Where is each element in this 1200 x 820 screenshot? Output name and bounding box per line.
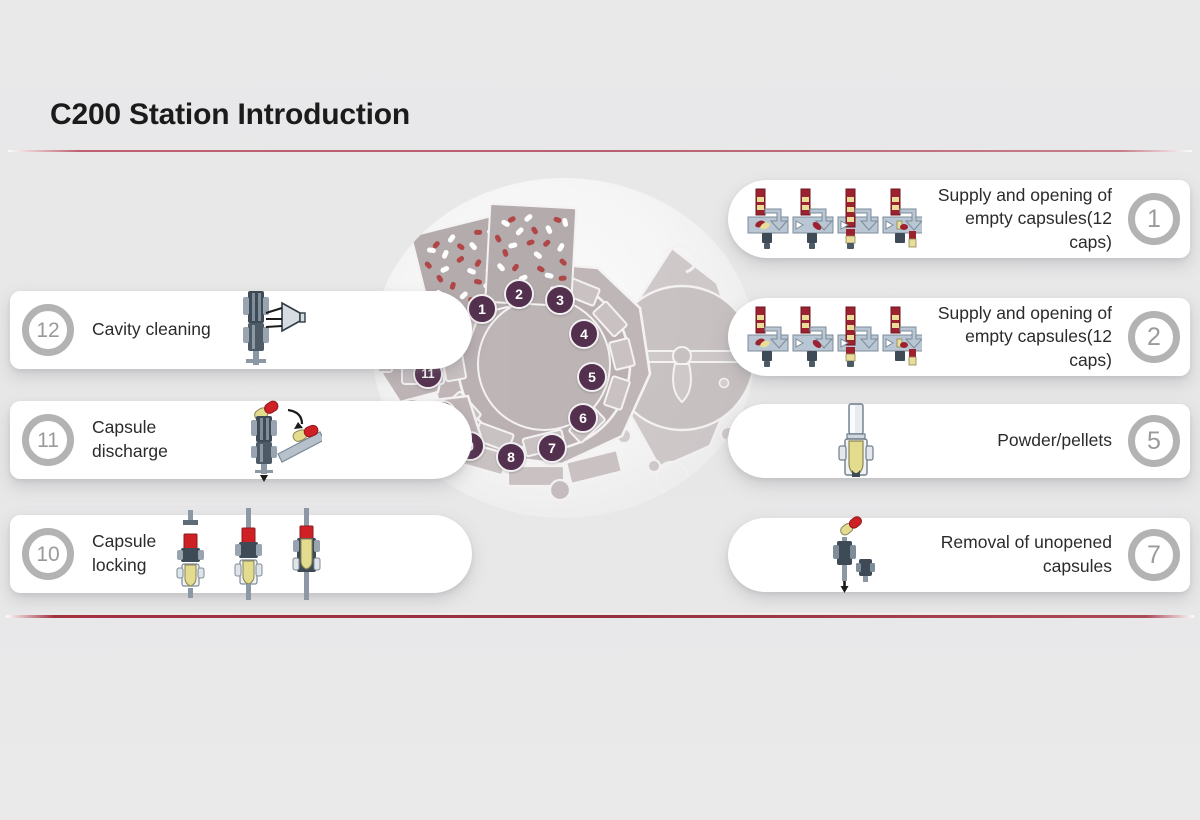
- station-card-11-label: Capsule discharge: [92, 416, 236, 463]
- station-card-10[interactable]: 10 Capsule locking: [10, 515, 472, 593]
- air-nozzle-cleaning-icon: [226, 289, 306, 371]
- machine-station-badge-6[interactable]: 6: [568, 403, 598, 433]
- station-card-2[interactable]: Supply and opening of empty capsules(12 …: [728, 298, 1190, 376]
- capsule-feed-sequence-icon: [746, 305, 922, 369]
- title-divider-rule: [8, 150, 1192, 152]
- station-card-10-label: Capsule locking: [92, 530, 156, 577]
- footer-divider-rule: [6, 615, 1194, 618]
- page-title: C200 Station Introduction: [50, 98, 410, 132]
- unopened-capsule-rejection-icon: [828, 515, 882, 595]
- station-card-5-label: Powder/pellets: [997, 429, 1112, 453]
- station-card-11-number: 11: [22, 414, 74, 466]
- capsule-locking-sequence-icon: [168, 508, 328, 600]
- dosator-powder-fill-icon: [834, 402, 878, 480]
- slide-root: C200 Station Introduction: [0, 0, 1200, 820]
- capsule-feed-sequence-icon: [746, 187, 922, 251]
- station-card-5-number: 5: [1128, 415, 1180, 467]
- station-card-5[interactable]: Powder/pellets 5: [728, 404, 1190, 478]
- machine-station-badge-1[interactable]: 1: [467, 294, 497, 324]
- station-card-1-number: 1: [1128, 193, 1180, 245]
- station-card-2-number: 2: [1128, 311, 1180, 363]
- station-card-7[interactable]: Removal of unopened capsules 7: [728, 518, 1190, 592]
- station-card-12-number: 12: [22, 304, 74, 356]
- machine-station-badge-5[interactable]: 5: [577, 362, 607, 392]
- station-card-10-number: 10: [22, 528, 74, 580]
- station-card-12-label: Cavity cleaning: [92, 318, 211, 342]
- station-card-1[interactable]: Supply and opening of empty capsules(12 …: [728, 180, 1190, 258]
- machine-station-badge-8[interactable]: 8: [496, 442, 526, 472]
- machine-station-badge-2[interactable]: 2: [504, 279, 534, 309]
- machine-station-badge-4[interactable]: 4: [569, 319, 599, 349]
- station-card-12[interactable]: 12 Cavity cleaning: [10, 291, 472, 369]
- machine-station-badge-7[interactable]: 7: [537, 433, 567, 463]
- station-card-2-label: Supply and opening of empty capsules(12 …: [922, 302, 1112, 373]
- station-card-7-label: Removal of unopened capsules: [892, 531, 1112, 578]
- machine-station-badge-3[interactable]: 3: [545, 285, 575, 315]
- capsule-ejection-icon: [236, 398, 322, 482]
- station-card-1-label: Supply and opening of empty capsules(12 …: [922, 184, 1112, 255]
- station-card-7-number: 7: [1128, 529, 1180, 581]
- station-card-11[interactable]: 11 Capsule discharge: [10, 401, 472, 479]
